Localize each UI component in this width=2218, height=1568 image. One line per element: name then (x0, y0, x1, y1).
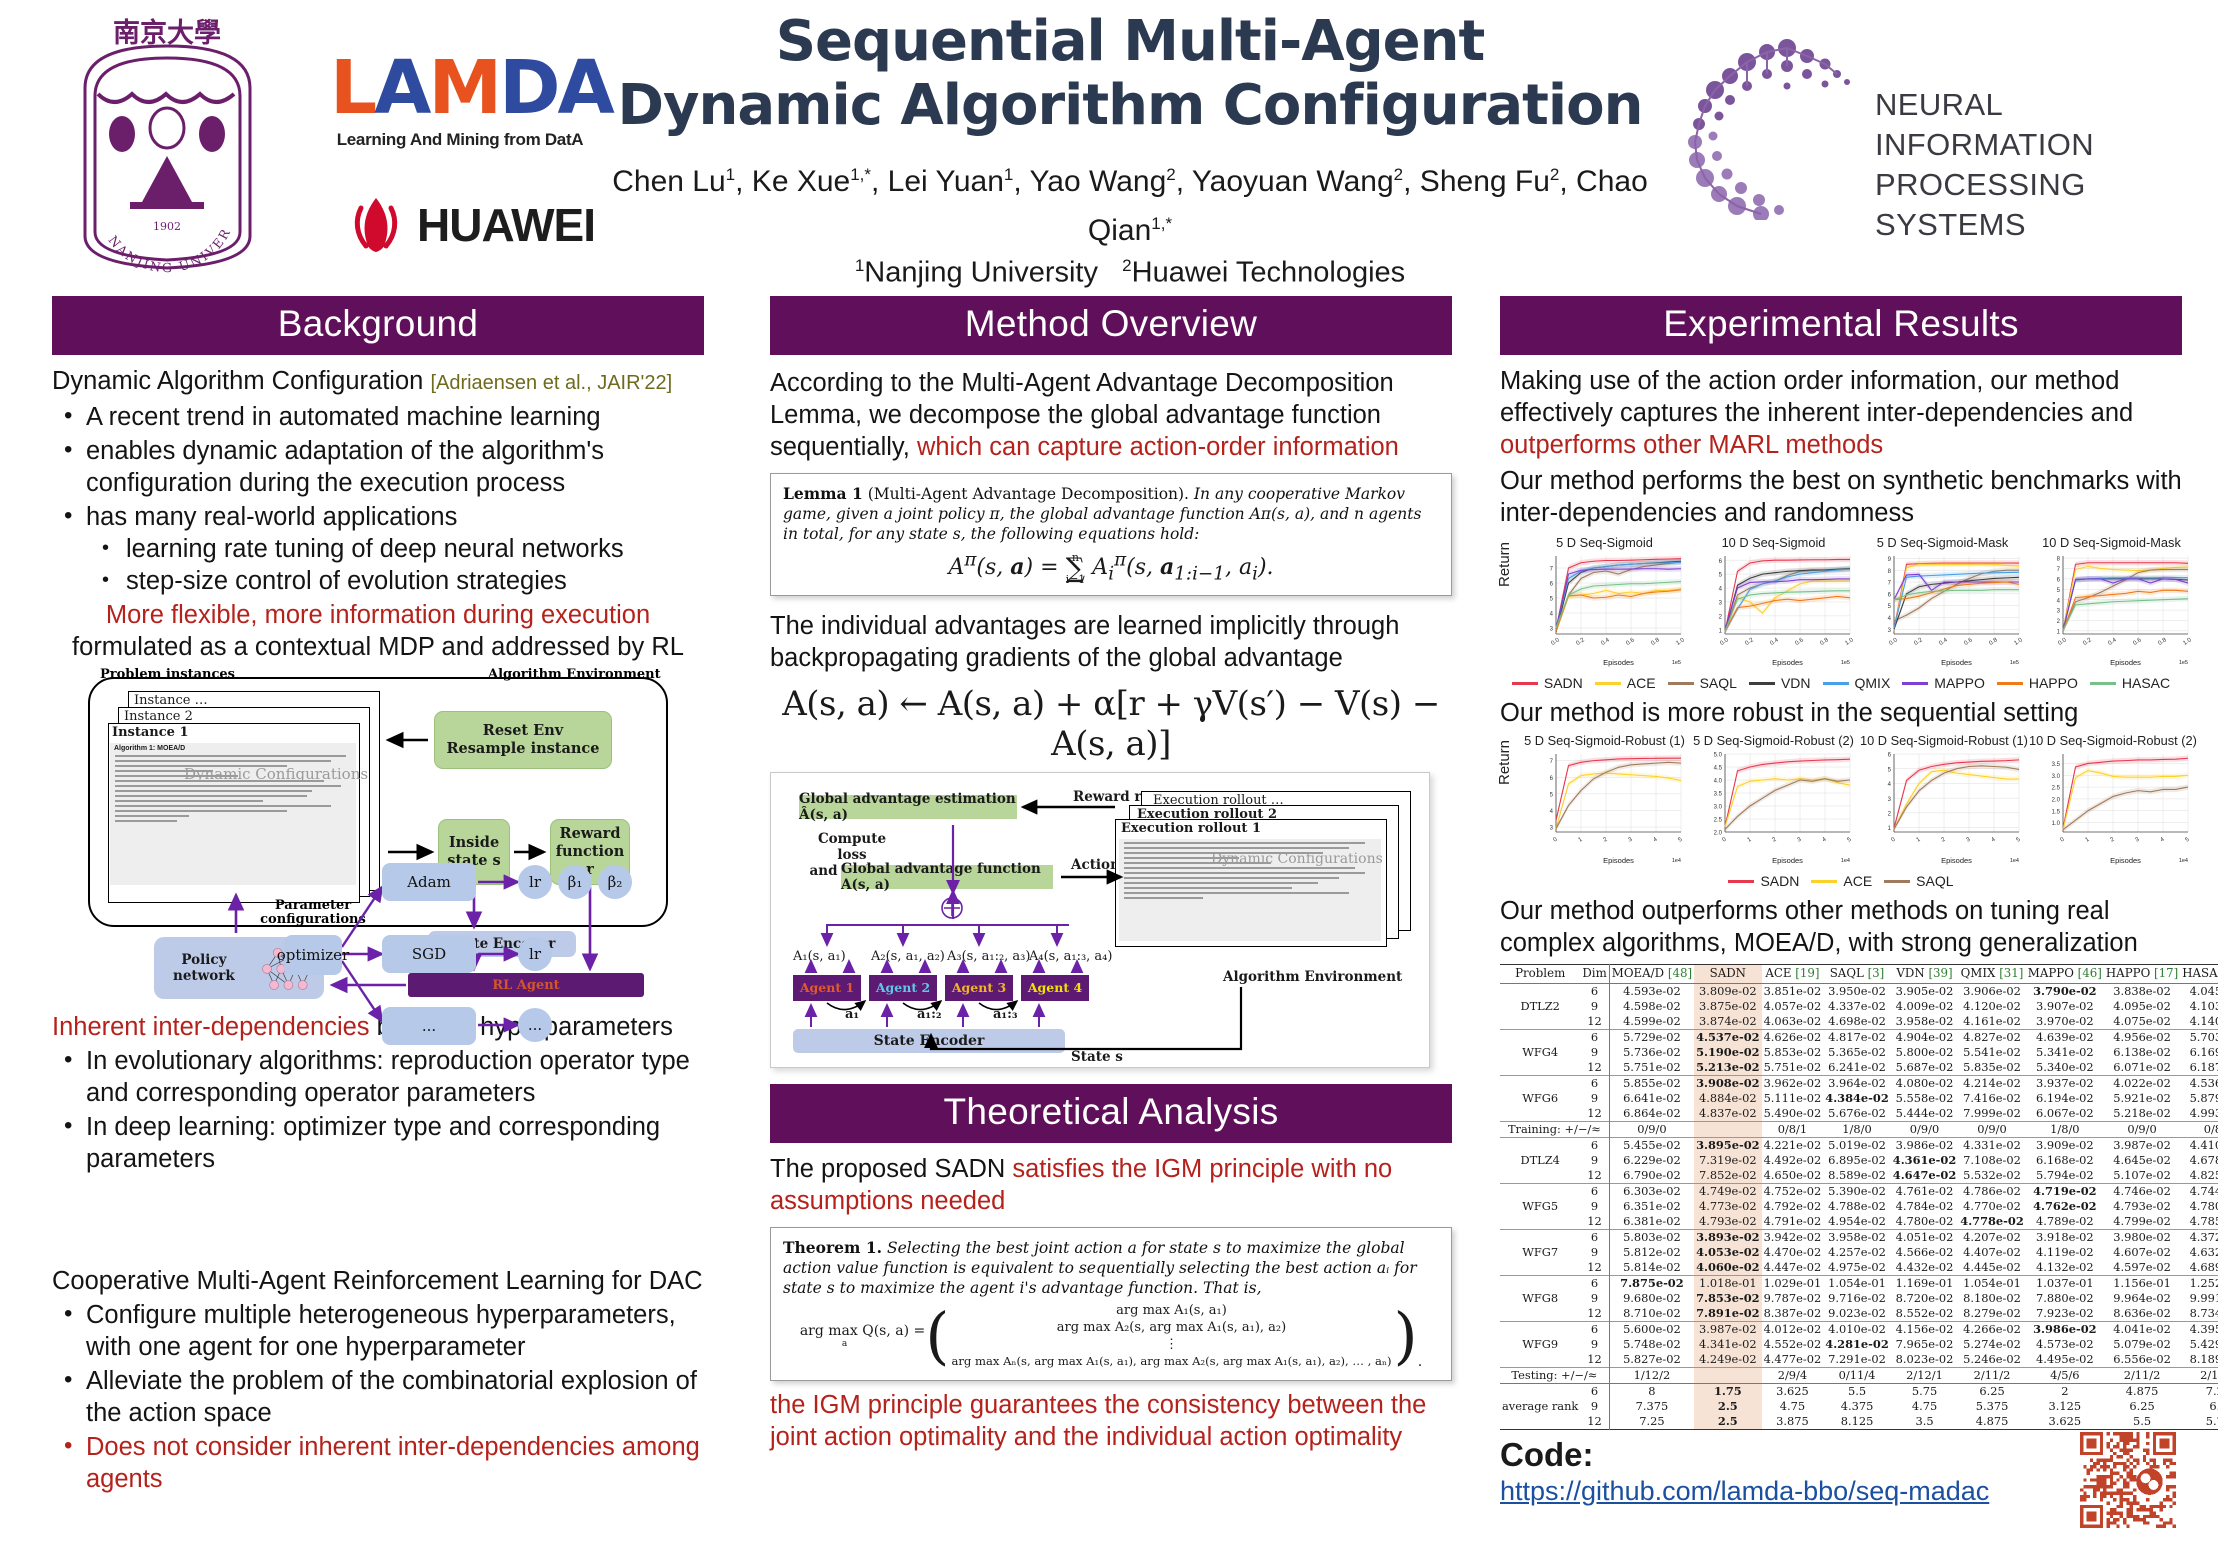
table-cell-value: 0/8/1 (1762, 1121, 1824, 1137)
qr-code (2080, 1432, 2176, 1528)
table-cell-dim: 12 (1580, 1106, 1609, 1122)
table-row: DTLZ264.593e-023.809e-023.851e-023.950e-… (1500, 983, 2218, 999)
svg-text:1.0: 1.0 (1675, 637, 1686, 647)
svg-text:0.4: 0.4 (1600, 637, 1611, 647)
svg-text:1: 1 (1577, 836, 1584, 843)
neurips-wordmark: NEURAL INFORMATION PROCESSING SYSTEMS (1875, 85, 2175, 245)
table-row: WFG566.303e-024.749e-024.752e-025.390e-0… (1500, 1183, 2218, 1199)
table-cell-value: 7.875e-02 (1609, 1275, 1694, 1291)
table-cell-value: 4.956e-02 (2104, 1029, 2180, 1045)
table-cell-value: 6.895e-02 (1823, 1153, 1891, 1168)
table-row: 125.827e-024.249e-024.477e-027.291e-028.… (1500, 1352, 2218, 1368)
svg-text:4: 4 (1550, 809, 1554, 815)
table-cell-value: 4.884e-02 (1694, 1091, 1762, 1106)
table-cell-value: 4.799e-02 (2104, 1214, 2180, 1230)
table-cell-value: 4.022e-02 (2104, 1075, 2180, 1091)
table-cell-value: 2.5 (1694, 1399, 1762, 1414)
table-cell-value: 4.689e-02 (2180, 1260, 2218, 1276)
legend-swatch (1997, 682, 2023, 685)
neurips-logo: NEURAL INFORMATION PROCESSING SYSTEMS (1675, 30, 2175, 220)
table-cell-label: average rank (1500, 1383, 1580, 1429)
chart-row1-ylabel: Return (1496, 542, 1513, 587)
table-cell-dim: 12 (1580, 1014, 1609, 1030)
legend-label: QMIX (1855, 675, 1891, 691)
results-para1-black: Making use of the action order informati… (1500, 367, 2133, 427)
chart-svg: 345670.00.20.40.60.81.0Episodes1e5 (1522, 550, 1687, 668)
theorem-eq-lhs-sub: a (764, 1339, 925, 1349)
svg-text:2: 2 (1602, 836, 1609, 843)
table-cell-value: 4.791e-02 (1762, 1214, 1824, 1230)
table-cell-value: 9.787e-02 (1762, 1291, 1824, 1306)
svg-text:7: 7 (2057, 567, 2061, 573)
results-para1-red: outperforms other MARL methods (1500, 431, 1883, 459)
table-cell-value: 9.680e-02 (1609, 1291, 1694, 1306)
svg-text:6: 6 (1888, 753, 1892, 759)
svg-text:0: 0 (1552, 836, 1559, 843)
table-cell-value: 4.788e-02 (1823, 1199, 1891, 1214)
table-cell-value: 4.372e-02 (2180, 1229, 2218, 1245)
theory-closing: the IGM principle guarantees the consist… (770, 1389, 1452, 1453)
theorem-equation: arg max Q(s, a) = a ( arg max A₁(s, a₁) … (783, 1302, 1439, 1370)
table-row: 124.599e-023.874e-024.063e-024.698e-023.… (1500, 1014, 2218, 1030)
table-cell-dim: 9 (1580, 999, 1609, 1014)
svg-text:5: 5 (1846, 836, 1853, 843)
table-cell-value: 2.5 (1694, 1414, 1762, 1430)
legend-swatch (2090, 682, 2116, 685)
table-cell-value: 8.552e-02 (1891, 1306, 1959, 1322)
list-item: learning rate tuning of deep neural netw… (86, 533, 704, 565)
optimizer-node: optimizer (284, 935, 342, 975)
table-cell-dim: 6 (1580, 1321, 1609, 1337)
svg-text:2: 2 (1940, 836, 1947, 843)
table-cell-value: 8.279e-02 (1958, 1306, 2026, 1322)
table-cell-value: 4.761e-02 (1891, 1183, 1959, 1199)
table-cell-value: 1/12/2 (1609, 1367, 1694, 1383)
table-cell-value: 7.25 (2180, 1383, 2218, 1399)
table-cell-value: 4.650e-02 (1762, 1168, 1824, 1184)
chart-title: 5 D Seq-Sigmoid-Robust (1) (1522, 733, 1687, 748)
table-cell-value: 4.744e-02 (2180, 1183, 2218, 1199)
svg-text:6: 6 (1719, 559, 1723, 565)
table-cell-value: 2/12/1 (1891, 1367, 1959, 1383)
svg-text:Episodes: Episodes (1603, 658, 1634, 667)
svg-text:4: 4 (1990, 836, 1997, 843)
table-cell-value: 4.749e-02 (1694, 1183, 1762, 1199)
table-cell-value: 5.274e-02 (1958, 1337, 2026, 1352)
table-cell-value: 4.080e-02 (1891, 1075, 1959, 1091)
table-cell-value: 0/9/0 (1958, 1121, 2026, 1137)
table-cell-value: 4.361e-02 (1891, 1153, 1959, 1168)
marl-bullets: Configure multiple heterogeneous hyperpa… (52, 1299, 704, 1495)
table-row: 99.680e-027.853e-029.787e-029.716e-028.7… (1500, 1291, 2218, 1306)
table-cell-value: 4.281e-02 (1823, 1337, 1891, 1352)
table-col-header: SAQL [3] (1823, 965, 1891, 984)
theorem-title: Theorem 1. (783, 1238, 882, 1257)
nju-year-text: 1902 (153, 220, 181, 233)
svg-text:1e5: 1e5 (1672, 660, 1681, 666)
table-cell-value: 5.365e-02 (1823, 1045, 1891, 1060)
table-cell-value: 0/11/4 (1823, 1367, 1891, 1383)
table-cell-dim: 6 (1580, 1075, 1609, 1091)
table-row-rank: 97.3752.54.754.3754.755.3753.1256.256.5 (1500, 1399, 2218, 1414)
svg-text:1.0: 1.0 (2182, 637, 2193, 647)
theorem-eq-lhs: arg max Q(s, a) = (800, 1323, 925, 1339)
table-row-testing: Testing: +/−/≈1/12/22/9/40/11/42/12/12/1… (1500, 1367, 2218, 1383)
table-cell-value: 8.180e-02 (1958, 1291, 2026, 1306)
table-cell-value: 9.716e-02 (1823, 1291, 1891, 1306)
table-cell-value: 4.993e-02 (2180, 1106, 2218, 1122)
poster-title-line1: Sequential Multi-Agent (600, 10, 1660, 74)
background-intro: Dynamic Algorithm Configuration [Adriaen… (52, 365, 704, 399)
table-row: 125.814e-024.060e-024.447e-024.975e-024.… (1500, 1260, 2218, 1276)
table-cell-value: 4.495e-02 (2026, 1352, 2104, 1368)
table-cell-value: 4.140e-02 (2180, 1014, 2218, 1030)
table-cell-dim: 6 (1580, 1137, 1609, 1153)
table-cell-value: 8.125 (1823, 1414, 1891, 1430)
table-cell-value: 8.636e-02 (2104, 1306, 2180, 1322)
table-cell-value: 4.566e-02 (1891, 1245, 1959, 1260)
svg-text:3: 3 (2057, 609, 2061, 615)
table-cell-value: 7.291e-02 (1823, 1352, 1891, 1368)
table-cell-dim: 9 (1580, 1199, 1609, 1214)
author-list: Chen Lu1, Ke Xue1,*, Lei Yuan1, Yao Wang… (600, 154, 1660, 252)
svg-text:3: 3 (1888, 797, 1892, 803)
table-cell-value: 5.800e-02 (1891, 1045, 1959, 1060)
svg-text:2: 2 (1719, 614, 1723, 620)
chart-title: 5 D Seq-Sigmoid-Robust (2) (1691, 733, 1856, 748)
table-cell-value: 5.190e-02 (1694, 1045, 1762, 1060)
table-cell-value: 4.221e-02 (1762, 1137, 1824, 1153)
table-cell-value: 4.249e-02 (1694, 1352, 1762, 1368)
table-cell-value: 5.532e-02 (1958, 1168, 2026, 1184)
table-cell-value: 4.827e-02 (1958, 1029, 2026, 1045)
table-cell-value: 4.053e-02 (1694, 1245, 1762, 1260)
background-mdp-line: formulated as a contextual MDP and addre… (52, 631, 704, 663)
table-cell-value: 4.786e-02 (1958, 1183, 2026, 1199)
table-cell-value: 4.009e-02 (1891, 999, 1959, 1014)
svg-text:3: 3 (1550, 627, 1554, 633)
svg-text:0.8: 0.8 (1988, 637, 1999, 647)
chart-row-synthetic: Return 5 D Seq-Sigmoid 345670.00.20.40.6… (1500, 535, 2182, 691)
legend-item: ACE (1595, 675, 1656, 691)
table-cell-value: 5.751e-02 (1609, 1060, 1694, 1076)
table-cell-value: 4.746e-02 (2104, 1183, 2180, 1199)
svg-text:2: 2 (1888, 811, 1892, 817)
table-cell-dim: 12 (1580, 1260, 1609, 1276)
table-cell-value: 5.246e-02 (1958, 1352, 2026, 1368)
poster-title-line2: Dynamic Algorithm Configuration (600, 74, 1660, 138)
neurips-line1: NEURAL INFORMATION (1875, 85, 2175, 165)
column-background: Background Dynamic Algorithm Configurati… (52, 296, 704, 1495)
table-cell-problem: WFG6 (1500, 1075, 1580, 1121)
table-cell-value: 7.319e-02 (1694, 1153, 1762, 1168)
svg-text:5: 5 (2184, 836, 2191, 843)
table-col-header: HAPPO [17] (2104, 965, 2180, 984)
svg-text:6: 6 (1550, 582, 1554, 588)
table-cell-value: 4.432e-02 (1891, 1260, 1959, 1276)
table-cell-value: 3.125 (2026, 1399, 2104, 1414)
svg-text:0.8: 0.8 (1819, 637, 1830, 647)
section-header-background: Background (52, 296, 704, 355)
table-cell-value: 1.029e-01 (1762, 1275, 1824, 1291)
theorem-eq-row-2: arg max A₂(s, arg max A₁(s, a₁), a₂) (951, 1319, 1391, 1336)
legend-item: ACE (1811, 873, 1872, 889)
svg-text:0.2: 0.2 (1744, 637, 1755, 647)
table-cell-value: 6.138e-02 (2104, 1045, 2180, 1060)
table-cell-value: 6.381e-02 (1609, 1214, 1694, 1230)
svg-text:4.0: 4.0 (1714, 779, 1723, 785)
svg-text:3: 3 (1796, 836, 1803, 843)
svg-text:0.8: 0.8 (2157, 637, 2168, 647)
table-cell-value: 3.905e-02 (1891, 983, 1959, 999)
table-cell-value: 8.589e-02 (1823, 1168, 1891, 1184)
table-cell-value: 4.954e-02 (1823, 1214, 1891, 1230)
table-cell-value: 5.541e-02 (1958, 1045, 2026, 1060)
table-cell-problem: DTLZ2 (1500, 983, 1580, 1029)
method-diagram-arrows (771, 773, 1431, 1069)
chart-cell: 10 D Seq-Sigmoid-Robust (2) 1.01.52.02.5… (2029, 733, 2194, 871)
table-cell-value: 3.987e-02 (1694, 1321, 1762, 1337)
svg-text:1e4: 1e4 (2010, 858, 2019, 864)
table-cell-value: 7.965e-02 (1891, 1337, 1959, 1352)
table-cell-value: 6.187e-02 (2180, 1060, 2218, 1076)
table-row: 95.736e-025.190e-025.853e-025.365e-025.8… (1500, 1045, 2218, 1060)
table-cell-value: 4.780e-02 (1891, 1214, 1959, 1230)
table-col-header: MOEA/D [48] (1609, 965, 1694, 984)
legend-item: SADN (1512, 675, 1583, 691)
table-cell-dim: 9 (1580, 1153, 1609, 1168)
table-cell-value: 6.641e-02 (1609, 1091, 1694, 1106)
table-cell-value: 4.119e-02 (2026, 1245, 2104, 1260)
svg-text:4: 4 (1821, 836, 1828, 843)
svg-text:2: 2 (1771, 836, 1778, 843)
legend-item: MAPPO (1902, 675, 1985, 691)
list-item: A recent trend in automated machine lear… (52, 401, 704, 433)
other-optimizer-node: ... (382, 1007, 476, 1045)
table-cell-value: 5.455e-02 (1609, 1137, 1694, 1153)
table-cell-problem: WFG4 (1500, 1029, 1580, 1075)
chart-cell: 5 D Seq-Sigmoid-Robust (2) 2.02.53.03.54… (1691, 733, 1856, 871)
legend-swatch (1884, 880, 1910, 883)
svg-text:1.0: 1.0 (1844, 637, 1855, 647)
legend-item: HAPPO (1997, 675, 2078, 691)
table-cell-value: 3.986e-02 (2026, 1321, 2104, 1337)
table-cell-value: 5.75 (2180, 1414, 2218, 1430)
table-cell-value: 4.063e-02 (1762, 1014, 1824, 1030)
table-cell-value: 3.625 (2026, 1414, 2104, 1430)
chart-cell: 10 D Seq-Sigmoid-Mask 123456780.00.20.40… (2029, 535, 2194, 673)
table-cell-value: 6.071e-02 (2104, 1060, 2180, 1076)
dac-citation: [Adriaensen et al., JAIR'22] (430, 372, 672, 394)
legend-label: HASAC (2122, 675, 2170, 691)
svg-text:0.0: 0.0 (2057, 637, 2068, 647)
svg-text:4: 4 (1652, 836, 1659, 843)
theorem-eq-row-1: arg max A₁(s, a₁) (951, 1302, 1391, 1319)
legend-swatch (1811, 880, 1837, 883)
svg-text:3: 3 (1627, 836, 1634, 843)
svg-text:5: 5 (1888, 767, 1892, 773)
svg-text:9: 9 (1888, 557, 1892, 563)
table-cell-dim: 12 (1580, 1414, 1609, 1430)
svg-text:0.6: 0.6 (1625, 637, 1636, 647)
legend-label: HAPPO (2029, 675, 2078, 691)
svg-text:0.0: 0.0 (1888, 637, 1899, 647)
table-cell-value: 3.809e-02 (1694, 983, 1762, 999)
table-cell-value: 2/11/2 (1958, 1367, 2026, 1383)
table-cell-value: 3.937e-02 (2026, 1075, 2104, 1091)
lemma-name: (Multi-Agent Advantage Decomposition). (868, 485, 1189, 503)
table-cell-dim: 12 (1580, 1352, 1609, 1368)
table-cell-value: 8 (1609, 1383, 1694, 1399)
svg-text:0.8: 0.8 (1650, 637, 1661, 647)
table-cell-value: 8.734e-02 (2180, 1306, 2218, 1322)
table-cell-value: 4.075e-02 (2104, 1014, 2180, 1030)
svg-text:3.0: 3.0 (2052, 774, 2061, 780)
table-cell-value: 3.851e-02 (1762, 983, 1824, 999)
chart-title: 10 D Seq-Sigmoid (1691, 535, 1856, 550)
svg-text:1: 1 (2084, 836, 2091, 843)
svg-text:Episodes: Episodes (1941, 658, 1972, 667)
adam-node: Adam (382, 863, 476, 901)
table-cell-value: 4.041e-02 (2104, 1321, 2180, 1337)
table-cell-value: 5.855e-02 (1609, 1075, 1694, 1091)
table-cell-value: 4.410e-02 (2180, 1137, 2218, 1153)
table-row: WFG765.803e-023.893e-023.942e-023.958e-0… (1500, 1229, 2218, 1245)
table-row: 95.748e-024.341e-024.552e-024.281e-027.9… (1500, 1337, 2218, 1352)
table-col-header: ACE [19] (1762, 965, 1824, 984)
huawei-wordmark: HUAWEI (417, 198, 595, 252)
legend-swatch (1512, 682, 1538, 685)
legend-item: HASAC (2090, 675, 2170, 691)
table-cell-value: 5.558e-02 (1891, 1091, 1959, 1106)
code-url-link[interactable]: https://github.com/lamda-bbo/seq-madac (1500, 1476, 1989, 1507)
table-row: WFG665.855e-023.908e-023.962e-023.964e-0… (1500, 1075, 2218, 1091)
table-cell-label: Testing: +/−/≈ (1500, 1367, 1609, 1383)
svg-text:0: 0 (1890, 836, 1897, 843)
svg-text:7: 7 (1888, 581, 1892, 587)
table-cell-value: 3.918e-02 (2026, 1229, 2104, 1245)
table-cell-value: 6.25 (1958, 1383, 2026, 1399)
chart-cell: 10 D Seq-Sigmoid-Robust (1) 123456012345… (1860, 733, 2025, 871)
sgd-lr-node: lr (518, 937, 552, 971)
table-col-header: HASAC [22] (2180, 965, 2218, 984)
svg-text:1: 1 (1746, 836, 1753, 843)
table-row: 126.381e-024.793e-024.791e-024.954e-024.… (1500, 1214, 2218, 1230)
table-cell-value: 4.537e-02 (1694, 1029, 1762, 1045)
table-cell-value: 5.375 (1958, 1399, 2026, 1414)
svg-text:4.5: 4.5 (1714, 766, 1723, 772)
svg-text:2: 2 (2109, 836, 2116, 843)
table-cell-value: 4.792e-02 (1762, 1199, 1824, 1214)
table-cell-value: 3.964e-02 (1823, 1075, 1891, 1091)
table-cell-value: 3.625 (1762, 1383, 1824, 1399)
table-cell-value: 5.490e-02 (1762, 1106, 1824, 1122)
table-cell-value: 9.991e-02 (2180, 1291, 2218, 1306)
table-cell-value: 7.852e-02 (1694, 1168, 1762, 1184)
table-cell-dim: 9 (1580, 1245, 1609, 1260)
results-table: ProblemDimMOEA/D [48]SADNACE [19]SAQL [3… (1500, 964, 2218, 1430)
lemma-title: Lemma 1 (783, 484, 863, 503)
table-cell-problem: DTLZ4 (1500, 1137, 1580, 1183)
table-cell-value: 5.736e-02 (1609, 1045, 1694, 1060)
table-cell-value: 5.600e-02 (1609, 1321, 1694, 1337)
table-cell-value: 4.752e-02 (1762, 1183, 1824, 1199)
table-header-row: ProblemDimMOEA/D [48]SADNACE [19]SAQL [3… (1500, 965, 2218, 984)
table-cell-dim: 12 (1580, 1306, 1609, 1322)
svg-text:0.2: 0.2 (2082, 637, 2093, 647)
table-cell-value: 4.120e-02 (1958, 999, 2026, 1014)
table-row: 128.710e-027.891e-028.387e-029.023e-028.… (1500, 1306, 2218, 1322)
table-cell-dim: 9 (1580, 1337, 1609, 1352)
table-row: 96.229e-027.319e-024.492e-026.895e-024.3… (1500, 1153, 2218, 1168)
marl-heading: Cooperative Multi-Agent Reinforcement Le… (52, 1265, 704, 1297)
adam-lr-node: lr (518, 865, 552, 899)
table-cell-value: 4.639e-02 (2026, 1029, 2104, 1045)
table-cell-value: 4.678e-02 (2180, 1153, 2218, 1168)
table-cell-value: 4.095e-02 (2104, 999, 2180, 1014)
implicit-learning-text: The individual advantages are learned im… (770, 610, 1452, 674)
svg-text:8: 8 (1888, 569, 1892, 575)
svg-text:3: 3 (1965, 836, 1972, 843)
table-cell-value: 4.975e-02 (1823, 1260, 1891, 1276)
table-cell-dim: 9 (1580, 1291, 1609, 1306)
svg-text:3.0: 3.0 (1714, 805, 1723, 811)
table-row-training: Training: +/−/≈0/9/00/8/11/8/00/9/00/9/0… (1500, 1121, 2218, 1137)
lamda-tagline: Learning And Mining from DatA (330, 130, 590, 150)
table-cell-value: 0/9/0 (1891, 1121, 1959, 1137)
table-cell-value: 6.25 (2104, 1399, 2180, 1414)
list-item: step-size control of evolution strategie… (86, 565, 704, 597)
svg-text:Episodes: Episodes (1772, 856, 1803, 865)
theorem-eq-row-3: ⋮ (951, 1336, 1391, 1353)
chart-svg: 123456012345Episodes1e4 (1860, 748, 2025, 866)
table-cell-value: 5.921e-02 (2104, 1091, 2180, 1106)
svg-text:0: 0 (2059, 836, 2066, 843)
table-cell-value: 5.75 (1891, 1383, 1959, 1399)
table-cell-value: 1.054e-01 (1823, 1275, 1891, 1291)
table-cell-value: 5.429e-02 (2180, 1337, 2218, 1352)
table-cell-value: 4.573e-02 (2026, 1337, 2104, 1352)
table-cell-value: 4.597e-02 (2104, 1260, 2180, 1276)
table-cell-value: 4.477e-02 (1762, 1352, 1824, 1368)
neurips-line2: PROCESSING SYSTEMS (1875, 165, 2175, 245)
svg-text:3.5: 3.5 (1714, 792, 1723, 798)
svg-text:1e5: 1e5 (2179, 660, 2188, 666)
table-cell-value: 4.632e-02 (2180, 1245, 2218, 1260)
table-cell-value: 4.057e-02 (1762, 999, 1824, 1014)
table-cell-value: 4.875 (2104, 1383, 2180, 1399)
table-cell-value: 5.340e-02 (2026, 1060, 2104, 1076)
affiliations: 1Nanjing University 2Huawei Technologies (600, 256, 1660, 290)
table-cell-value: 8.189e-02 (2180, 1352, 2218, 1368)
table-cell-value: 5.687e-02 (1891, 1060, 1959, 1076)
table-cell-value: 4.341e-02 (1694, 1337, 1762, 1352)
chart-cell: 5 D Seq-Sigmoid-Mask 34567890.00.20.40.6… (1860, 535, 2025, 673)
theorem-box: Theorem 1. Selecting the best joint acti… (770, 1227, 1452, 1381)
table-cell-value: 7.891e-02 (1694, 1306, 1762, 1322)
table-row: 94.598e-023.875e-024.057e-024.337e-024.0… (1500, 999, 2218, 1014)
table-cell-value: 4.132e-02 (2026, 1260, 2104, 1276)
svg-text:7: 7 (1550, 759, 1554, 765)
table-cell-value: 4.762e-02 (2026, 1199, 2104, 1214)
table-cell-value: 5.803e-02 (1609, 1229, 1694, 1245)
table-cell-value: 5.107e-02 (2104, 1168, 2180, 1184)
svg-text:Episodes: Episodes (1941, 856, 1972, 865)
chart-cell: 10 D Seq-Sigmoid 1234560.00.20.40.60.81.… (1691, 535, 1856, 673)
table-cell-value: 5.748e-02 (1609, 1337, 1694, 1352)
table-cell-value: 7.25 (1609, 1414, 1694, 1430)
table-cell-value: 1.169e-01 (1891, 1275, 1959, 1291)
